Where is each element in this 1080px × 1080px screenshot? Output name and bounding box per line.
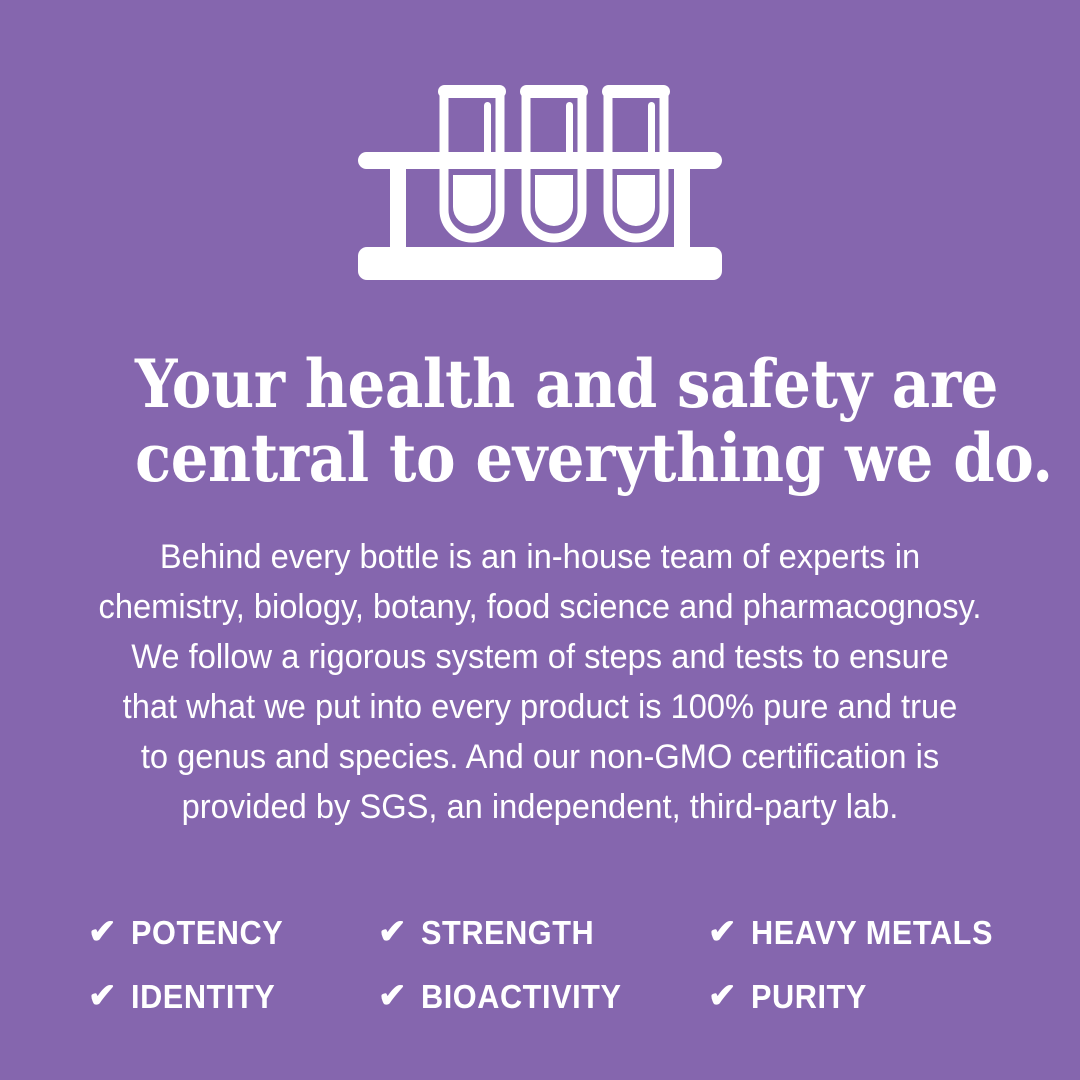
page-title: Your health and safety are central to ev…: [135, 348, 945, 496]
checklist-label-strength: STRENGTH: [421, 916, 594, 949]
check-icon: ✔: [378, 915, 407, 949]
check-icon: ✔: [708, 915, 737, 949]
checklist-label-bioactivity: BIOACTIVITY: [421, 980, 622, 1013]
checklist-label-identity: IDENTITY: [131, 980, 275, 1013]
list-item: ✔ STRENGTH: [378, 916, 708, 950]
list-item: ✔ POTENCY: [88, 916, 378, 950]
check-icon: ✔: [708, 979, 737, 1013]
body-line-1: Behind every bottle is an in-house team …: [98, 532, 981, 582]
body-line-6: provided by SGS, an independent, third-p…: [98, 782, 981, 832]
headline-line-2: central to everything we do.: [135, 422, 945, 496]
check-icon: ✔: [378, 979, 407, 1013]
body-paragraph: Behind every bottle is an in-house team …: [98, 532, 981, 832]
checklist-label-purity: PURITY: [751, 980, 867, 1013]
test-checklist: ✔ POTENCY ✔ STRENGTH ✔ HEAVY METALS ✔ ID…: [80, 916, 1000, 1014]
headline-line-1: Your health and safety are: [135, 348, 945, 422]
body-line-2: chemistry, biology, botany, food science…: [98, 582, 981, 632]
checklist-label-heavy-metals: HEAVY METALS: [751, 916, 993, 949]
check-icon: ✔: [88, 979, 117, 1013]
checklist-label-potency: POTENCY: [131, 916, 283, 949]
body-line-3: We follow a rigorous system of steps and…: [98, 632, 981, 682]
test-tube-rack-icon: [356, 72, 724, 280]
list-item: ✔ HEAVY METALS: [708, 916, 1008, 950]
list-item: ✔ PURITY: [708, 980, 1008, 1014]
check-icon: ✔: [88, 915, 117, 949]
promo-poster: Your health and safety are central to ev…: [0, 0, 1080, 1080]
list-item: ✔ BIOACTIVITY: [378, 980, 708, 1014]
list-item: ✔ IDENTITY: [88, 980, 378, 1014]
body-line-5: to genus and species. And our non-GMO ce…: [98, 732, 981, 782]
body-line-4: that what we put into every product is 1…: [98, 682, 981, 732]
